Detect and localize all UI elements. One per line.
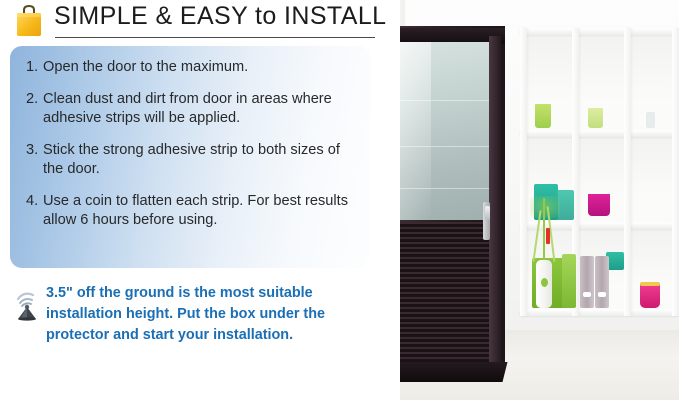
glass-object <box>646 112 655 128</box>
door-handle-lever <box>485 206 490 220</box>
shelf-cube <box>631 137 676 222</box>
shelf-divider <box>520 28 527 316</box>
green-box <box>562 254 576 308</box>
shopping-bag-icon <box>14 4 44 38</box>
header: SIMPLE & EASY to INSTALL <box>8 2 388 42</box>
step-number: 2. <box>26 90 43 128</box>
door-edge <box>489 36 501 366</box>
instructions-column: SIMPLE & EASY to INSTALL 1. Open the doo… <box>0 0 400 400</box>
instruction-graphic: SIMPLE & EASY to INSTALL 1. Open the doo… <box>0 0 679 400</box>
door-louvers <box>400 222 493 366</box>
magazine-file <box>595 256 609 308</box>
list-item: 1. Open the door to the maximum. <box>26 58 362 77</box>
glass-mullion <box>400 188 489 189</box>
beacon-signal-icon <box>14 285 46 321</box>
title-underline <box>55 37 375 38</box>
shelf-board <box>520 28 679 35</box>
white-cube-shelving <box>520 28 679 333</box>
shelf-divider <box>624 28 631 316</box>
list-item: 2. Clean dust and dirt from door in area… <box>26 90 362 128</box>
step-text: Use a coin to flatten each strip. For be… <box>43 192 362 230</box>
list-item: 4. Use a coin to flatten each strip. For… <box>26 192 362 230</box>
step-text: Open the door to the maximum. <box>43 58 362 77</box>
door-glass-panel <box>400 42 489 220</box>
glass-reflection <box>400 42 431 220</box>
installation-height-note: 3.5" off the ground is the most suitable… <box>8 283 378 353</box>
shelf-board <box>520 130 679 137</box>
list-item: 3. Stick the strong adhesive strip to bo… <box>26 141 362 179</box>
product-photo <box>400 0 679 400</box>
glass-mullion <box>400 146 489 147</box>
step-number: 4. <box>26 192 43 230</box>
plant-stem <box>543 198 545 262</box>
file-label <box>598 292 606 297</box>
glass-mullion <box>400 100 489 101</box>
green-cup <box>588 108 603 128</box>
red-accent <box>546 228 550 244</box>
steps-list: 1. Open the door to the maximum. 2. Clea… <box>26 58 362 243</box>
step-text: Clean dust and dirt from door in areas w… <box>43 90 362 128</box>
vase-decoration <box>541 278 548 287</box>
step-text: Stick the strong adhesive strip to both … <box>43 141 362 179</box>
green-cup <box>535 104 551 128</box>
steps-panel: 1. Open the door to the maximum. 2. Clea… <box>10 46 370 268</box>
step-number: 1. <box>26 58 43 77</box>
magazine-file <box>580 256 594 308</box>
pink-pot <box>588 194 610 216</box>
plant-foliage <box>530 196 560 218</box>
pot-rim <box>640 282 660 286</box>
note-text: 3.5" off the ground is the most suitable… <box>46 283 378 346</box>
file-label <box>583 292 591 297</box>
dark-wood-door <box>400 26 509 386</box>
step-number: 3. <box>26 141 43 179</box>
shelf-board <box>520 309 679 316</box>
pink-pot <box>640 284 660 308</box>
door-threshold <box>400 362 507 382</box>
page-title: SIMPLE & EASY to INSTALL <box>54 2 384 31</box>
shelf-divider <box>672 28 679 316</box>
